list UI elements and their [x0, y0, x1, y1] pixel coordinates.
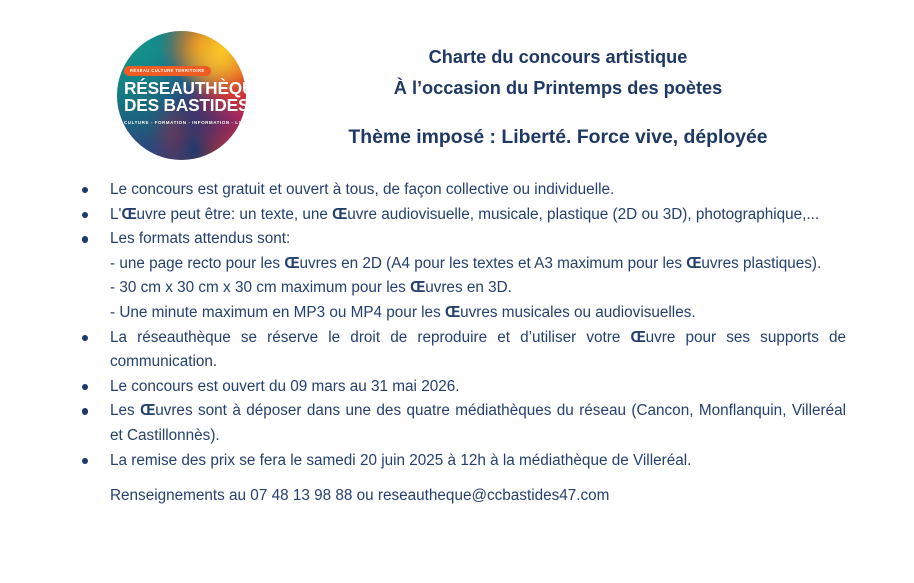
- bullet-icon: [82, 236, 88, 242]
- list-item-text: Les formats attendus sont:: [110, 227, 846, 252]
- list-item: Le concours est ouvert du 09 mars au 31 …: [0, 375, 914, 400]
- oe-ligature: Œ: [121, 206, 136, 223]
- logo-title-line2: des Bastides: [124, 97, 241, 115]
- oe-ligature: Œ: [332, 206, 347, 223]
- document-header: RÉSEAU CULTURE TERRITOIRE Réseauthèque d…: [0, 0, 914, 168]
- page-title-line2: À l’occasion du Printemps des poètes: [258, 73, 858, 104]
- list-item-text: La réseauthèque se réserve le droit de r…: [110, 326, 846, 375]
- page-title: Charte du concours artistique À l’occasi…: [258, 42, 858, 104]
- bullet-icon: [82, 187, 88, 193]
- page-title-line1: Charte du concours artistique: [258, 42, 858, 73]
- logo-badge-label: RÉSEAU CULTURE TERRITOIRE: [124, 66, 211, 76]
- list-item: Le concours est gratuit et ouvert à tous…: [0, 178, 914, 203]
- list-item-subline: - Une minute maximum en MP3 ou MP4 pour …: [110, 301, 846, 326]
- list-item-text: Les Œuvres sont à déposer dans une des q…: [110, 399, 846, 448]
- oe-ligature: Œ: [630, 329, 645, 346]
- oe-ligature: Œ: [686, 255, 701, 272]
- list-item: Les formats attendus sont: - une page re…: [0, 227, 914, 325]
- bullet-icon: [82, 408, 88, 414]
- oe-ligature: Œ: [445, 304, 460, 321]
- bullet-icon: [82, 458, 88, 464]
- reseautheque-logo: RÉSEAU CULTURE TERRITOIRE Réseauthèque d…: [117, 31, 246, 160]
- list-item-text: La remise des prix se fera le samedi 20 …: [110, 449, 846, 474]
- list-item-subline: - 30 cm x 30 cm x 30 cm maximum pour les…: [110, 276, 846, 301]
- bullet-icon: [82, 212, 88, 218]
- logo-tagline: Culture - Formation - Information - Lois…: [124, 120, 241, 125]
- list-item: L'Œuvre peut être: un texte, une Œuvre a…: [0, 203, 914, 228]
- list-item-text: Le concours est gratuit et ouvert à tous…: [110, 178, 846, 203]
- oe-ligature: Œ: [410, 279, 425, 296]
- document-body: Le concours est gratuit et ouvert à tous…: [0, 178, 914, 509]
- list-item: Les Œuvres sont à déposer dans une des q…: [0, 399, 914, 448]
- list-item-text: Le concours est ouvert du 09 mars au 31 …: [110, 375, 846, 400]
- list-item-text: L'Œuvre peut être: un texte, une Œuvre a…: [110, 203, 846, 228]
- list-item: La réseauthèque se réserve le droit de r…: [0, 326, 914, 375]
- oe-ligature: Œ: [284, 255, 299, 272]
- rules-list: Le concours est gratuit et ouvert à tous…: [0, 178, 914, 473]
- logo-text-group: RÉSEAU CULTURE TERRITOIRE Réseauthèque d…: [117, 31, 246, 160]
- bullet-icon: [82, 384, 88, 390]
- theme-heading: Thème imposé : Liberté. Force vive, dépl…: [258, 124, 858, 150]
- bullet-icon: [82, 335, 88, 341]
- contact-footnote: Renseignements au 07 48 13 98 88 ou rese…: [0, 473, 914, 509]
- document-page: RÉSEAU CULTURE TERRITOIRE Réseauthèque d…: [0, 0, 914, 583]
- list-item: La remise des prix se fera le samedi 20 …: [0, 449, 914, 474]
- list-item-subline: - une page recto pour les Œuvres en 2D (…: [110, 252, 846, 277]
- oe-ligature: Œ: [140, 402, 155, 419]
